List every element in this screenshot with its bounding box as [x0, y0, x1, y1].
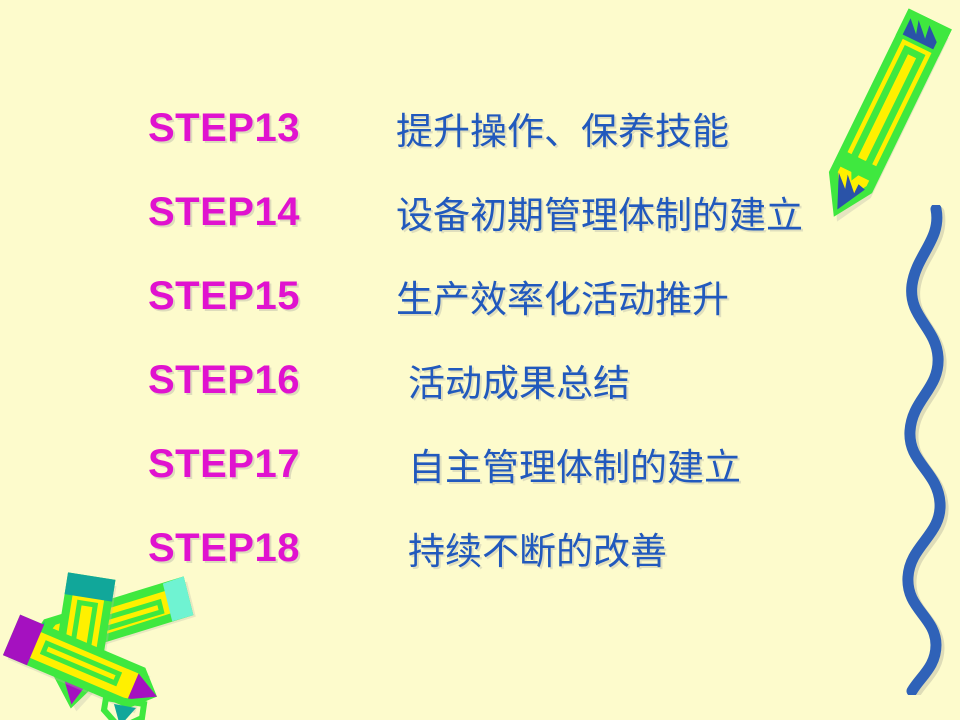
- list-item: STEP17 自主管理体制的建立: [0, 422, 960, 506]
- list-item: STEP15 生产效率化活动推升: [0, 254, 960, 338]
- list-item: STEP18 持续不断的改善: [0, 506, 960, 590]
- step-label-14: STEP14: [148, 190, 300, 235]
- step-label-16: STEP16: [148, 358, 300, 403]
- step-text-18: 持续不断的改善: [408, 521, 667, 575]
- step-label-17: STEP17: [148, 442, 300, 487]
- step-text-17: 自主管理体制的建立: [408, 437, 741, 491]
- step-text-16: 活动成果总结: [408, 353, 630, 407]
- step-text-14: 设备初期管理体制的建立: [396, 185, 803, 239]
- list-item: STEP16 活动成果总结: [0, 338, 960, 422]
- step-label-15: STEP15: [148, 274, 300, 319]
- step-label-18: STEP18: [148, 526, 300, 571]
- list-item: STEP13 提升操作、保养技能: [0, 86, 960, 170]
- step-label-13: STEP13: [148, 106, 300, 151]
- list-item: STEP14 设备初期管理体制的建立: [0, 170, 960, 254]
- step-text-15: 生产效率化活动推升: [396, 269, 729, 323]
- step-list: STEP13 提升操作、保养技能 STEP14 设备初期管理体制的建立 STEP…: [0, 86, 960, 590]
- step-text-13: 提升操作、保养技能: [396, 101, 729, 155]
- slide-canvas: STEP13 提升操作、保养技能 STEP14 设备初期管理体制的建立 STEP…: [0, 0, 960, 720]
